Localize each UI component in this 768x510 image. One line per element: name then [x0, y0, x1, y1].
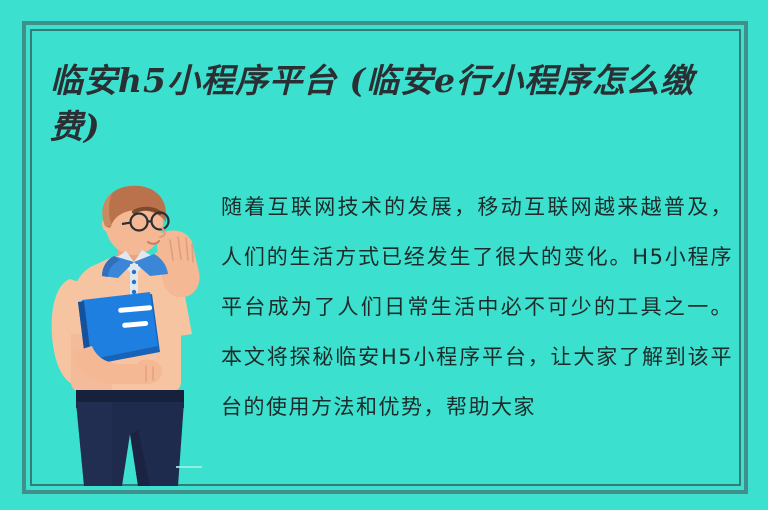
article-banner: 临安h5小程序平台 (临安e行小程序怎么缴费) 随着互联网技术的发展，移动互联网… [0, 0, 768, 510]
banner-body-text: 随着互联网技术的发展，移动互联网越来越普及，人们的生活方式已经发生了很大的变化。… [221, 182, 733, 432]
person-illustration [42, 184, 224, 486]
highlight-streak [176, 466, 202, 468]
banner-title: 临安h5小程序平台 (临安e行小程序怎么缴费) [50, 58, 722, 150]
person-illustration-svg [42, 184, 224, 486]
